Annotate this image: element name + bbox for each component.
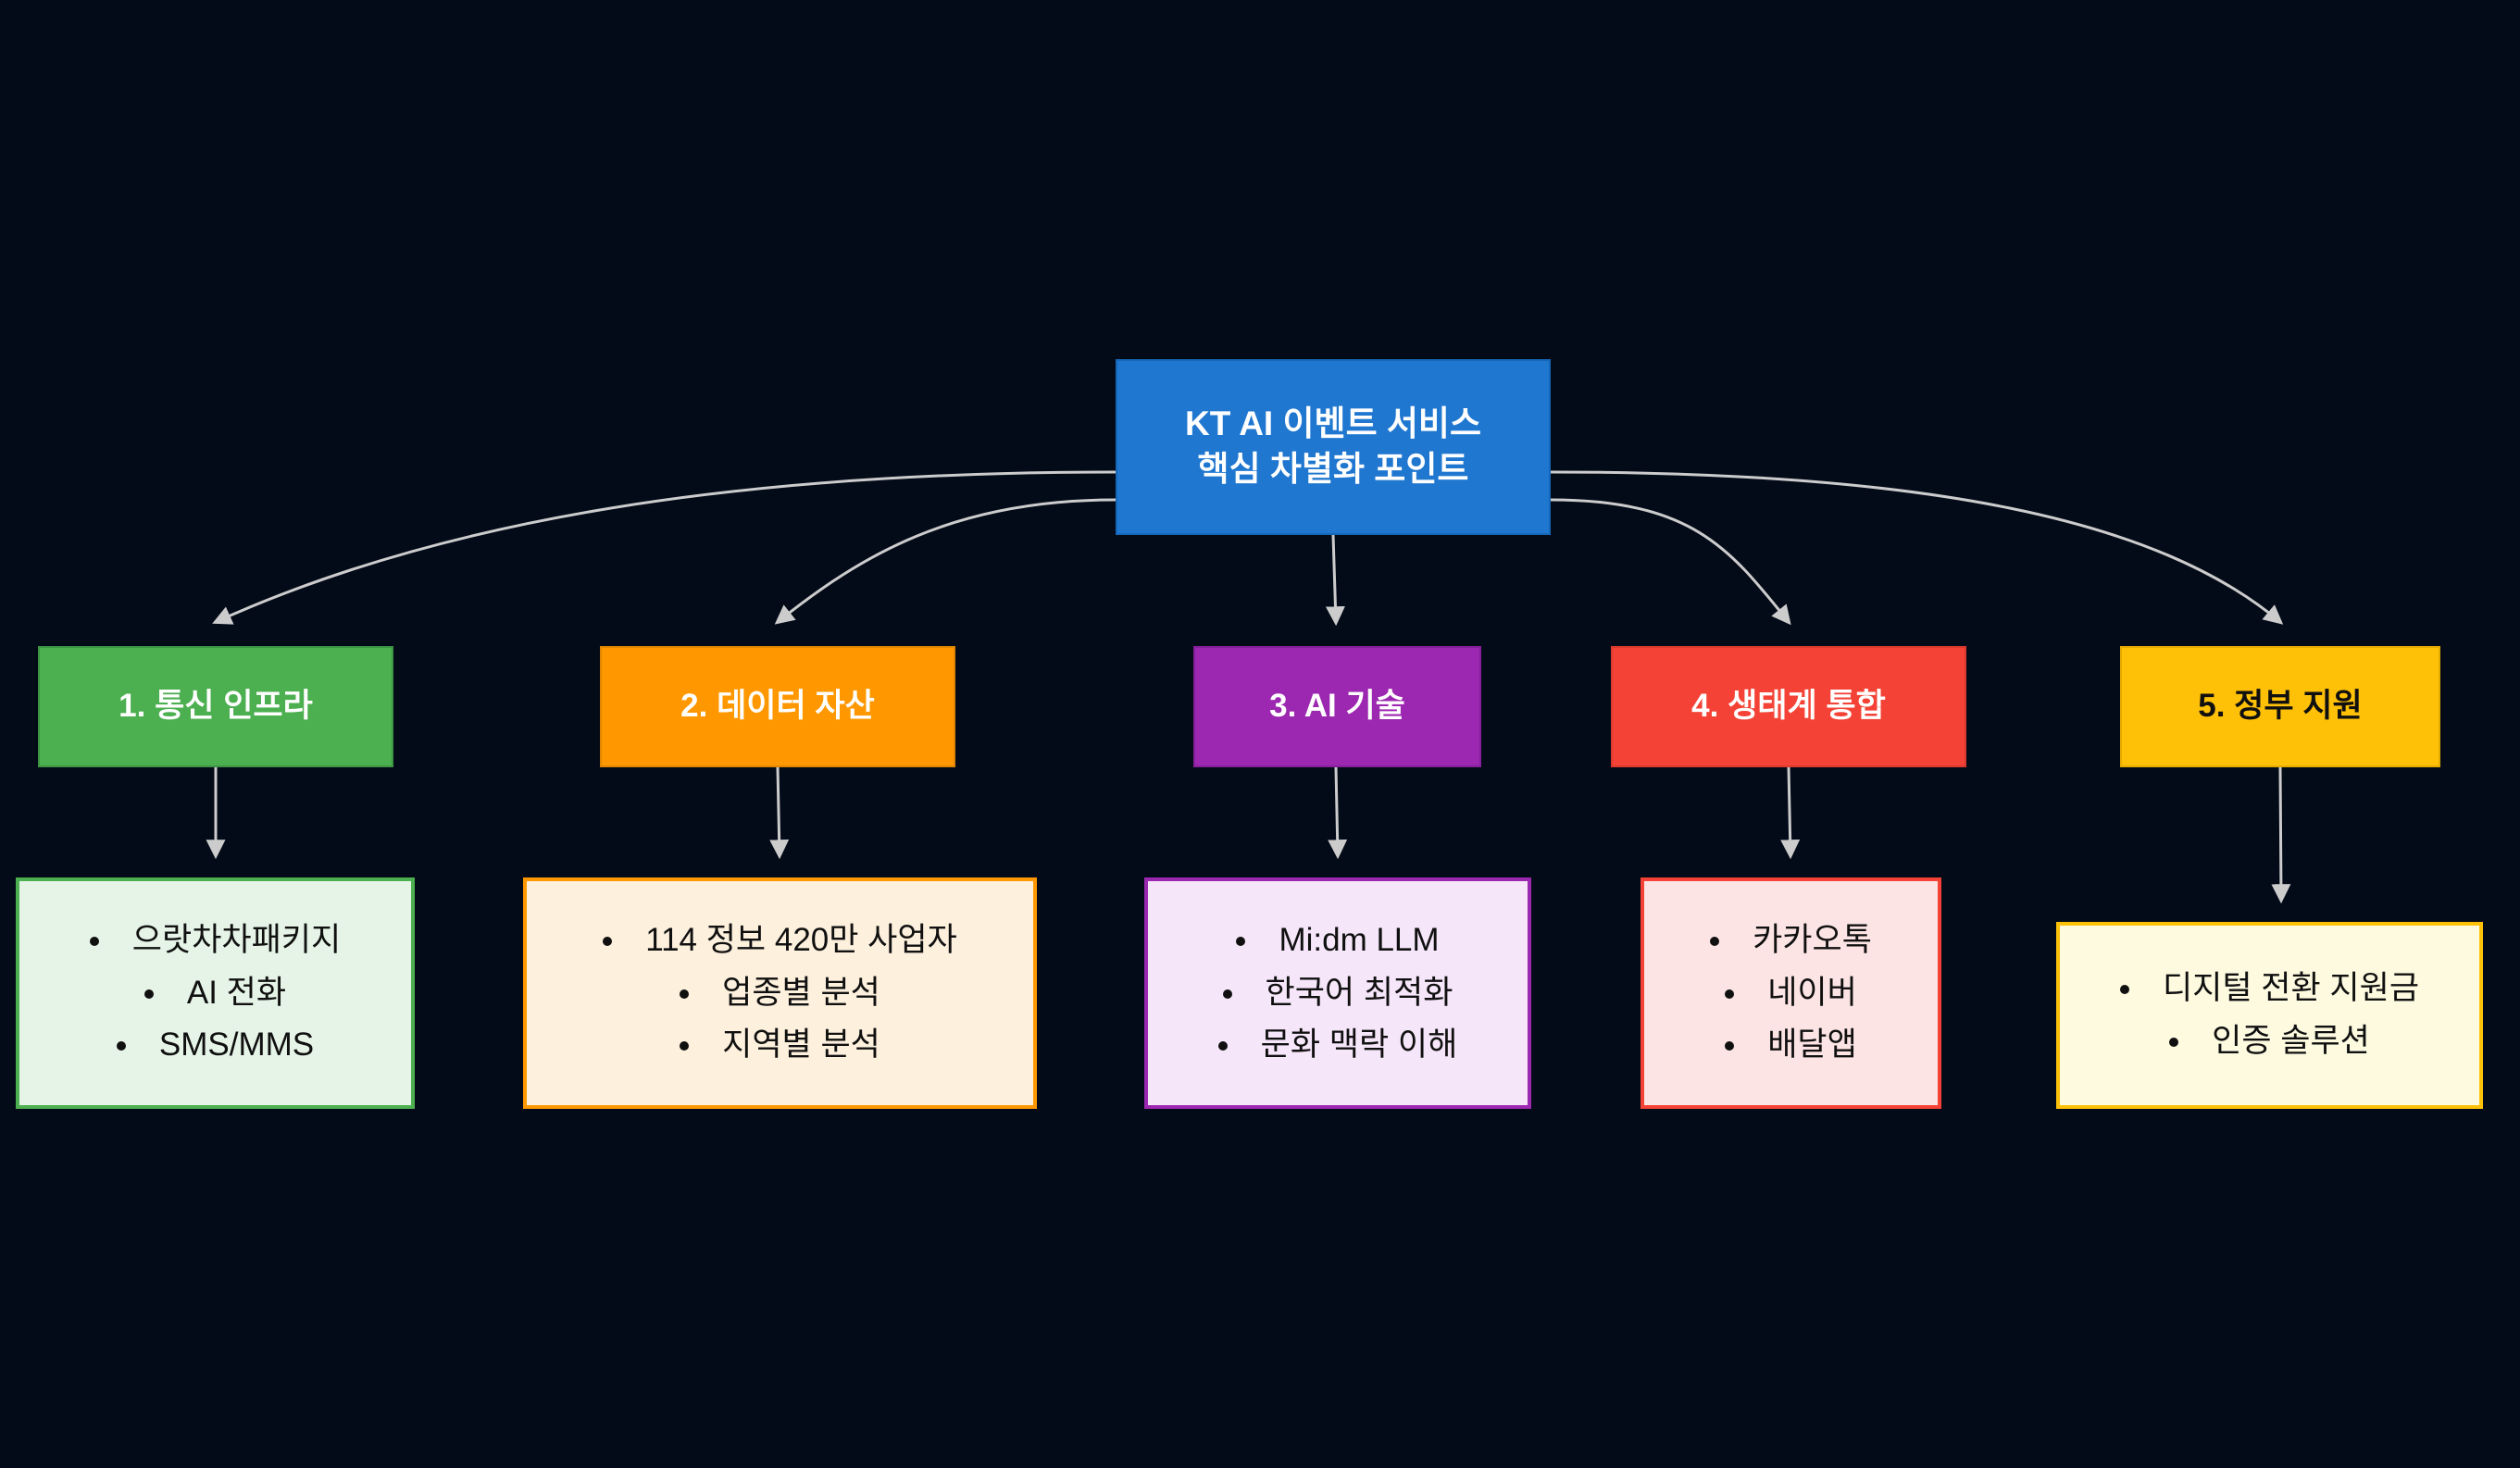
edge-cat-4-to-detail-4: [1789, 767, 1790, 855]
detail-node-4-list: 카카오톡 네이버 배달앱: [1710, 914, 1872, 1072]
diagram-canvas: KT AI 이벤트 서비스 핵심 차별화 포인트 1. 통신 인프라 2. 데이…: [0, 0, 2520, 1468]
list-item: 114 정보 420만 사업자: [603, 914, 957, 967]
detail-node-2[interactable]: 114 정보 420만 사업자 업종별 분석 지역별 분석: [523, 877, 1037, 1109]
list-item: 지역별 분석: [603, 1019, 957, 1072]
detail-node-5-list: 디지털 전환 지원금 인증 솔루션: [2120, 963, 2419, 1067]
category-node-5[interactable]: 5. 정부 지원: [2120, 646, 2440, 767]
category-node-5-label: 5. 정부 지원: [2198, 685, 2362, 728]
category-node-1-label: 1. 통신 인프라: [119, 685, 313, 728]
detail-node-3-list: Mi:dm LLM 한국어 최적화 문화 맥락 이해: [1218, 914, 1458, 1072]
detail-node-1-list: 으랏차차패키지 AI 전화 SMS/MMS: [90, 914, 341, 1072]
category-node-3[interactable]: 3. AI 기술: [1193, 646, 1481, 767]
list-item: 문화 맥락 이해: [1218, 1019, 1458, 1072]
list-item: Mi:dm LLM: [1218, 914, 1458, 967]
list-item: 인증 솔루션: [2120, 1015, 2419, 1068]
detail-node-2-list: 114 정보 420만 사업자 업종별 분석 지역별 분석: [603, 914, 957, 1072]
root-node-label-line1: KT AI 이벤트 서비스: [1185, 402, 1481, 447]
list-item: 카카오톡: [1710, 914, 1872, 967]
list-item: 업종별 분석: [603, 967, 957, 1020]
list-item: SMS/MMS: [90, 1019, 341, 1072]
category-node-1[interactable]: 1. 통신 인프라: [38, 646, 393, 767]
detail-node-4[interactable]: 카카오톡 네이버 배달앱: [1640, 877, 1941, 1109]
edge-root-to-cat-5: [1551, 472, 2280, 622]
list-item: 배달앱: [1710, 1019, 1872, 1072]
list-item: AI 전화: [90, 967, 341, 1020]
list-item: 으랏차차패키지: [90, 914, 341, 967]
list-item: 한국어 최적화: [1218, 967, 1458, 1020]
category-node-2[interactable]: 2. 데이터 자산: [600, 646, 955, 767]
edge-cat-5-to-detail-5: [2280, 767, 2281, 900]
edge-root-to-cat-1: [216, 472, 1116, 622]
detail-node-3[interactable]: Mi:dm LLM 한국어 최적화 문화 맥락 이해: [1144, 877, 1531, 1109]
detail-node-1[interactable]: 으랏차차패키지 AI 전화 SMS/MMS: [16, 877, 415, 1109]
edge-root-to-cat-3: [1333, 535, 1336, 622]
list-item: 네이버: [1710, 967, 1872, 1020]
list-item: 디지털 전환 지원금: [2120, 963, 2419, 1015]
root-node-label-line2: 핵심 차별화 포인트: [1185, 447, 1481, 492]
edge-root-to-cat-4: [1551, 500, 1789, 622]
root-node[interactable]: KT AI 이벤트 서비스 핵심 차별화 포인트: [1116, 359, 1551, 535]
root-node-label: KT AI 이벤트 서비스 핵심 차별화 포인트: [1170, 402, 1496, 492]
detail-node-5[interactable]: 디지털 전환 지원금 인증 솔루션: [2056, 922, 2483, 1109]
edge-cat-3-to-detail-3: [1336, 767, 1338, 855]
category-node-4-label: 4. 생태계 통합: [1691, 685, 1886, 728]
category-node-4[interactable]: 4. 생태계 통합: [1611, 646, 1966, 767]
category-node-2-label: 2. 데이터 자산: [680, 685, 875, 728]
edge-cat-2-to-detail-2: [778, 767, 780, 855]
edge-root-to-cat-2: [778, 500, 1116, 622]
category-node-3-label: 3. AI 기술: [1269, 685, 1405, 728]
